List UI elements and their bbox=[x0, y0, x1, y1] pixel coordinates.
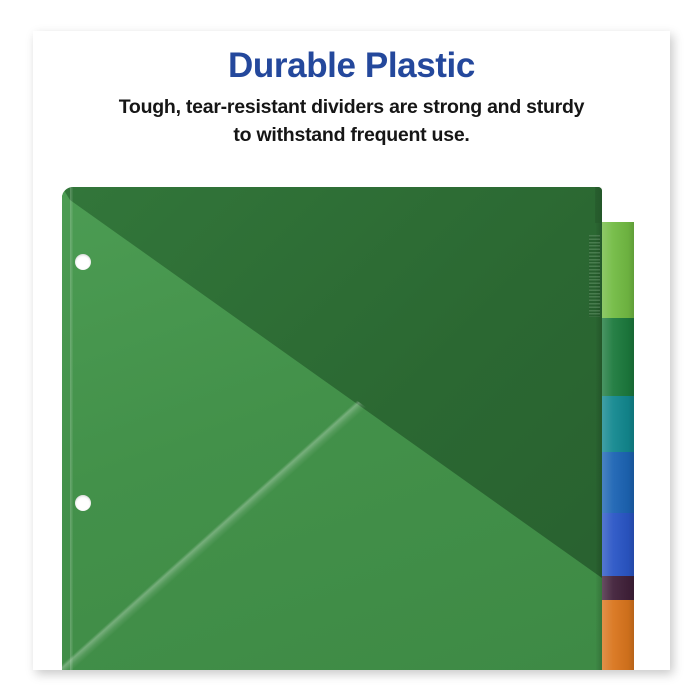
divider-tab-6 bbox=[602, 576, 634, 600]
page-subtitle-line-1: Tough, tear-resistant dividers are stron… bbox=[69, 94, 634, 122]
divider-tab-1 bbox=[602, 222, 634, 318]
page-subtitle: Tough, tear-resistant dividers are stron… bbox=[69, 94, 634, 149]
top-punch-hole bbox=[75, 254, 91, 270]
page-title: Durable Plastic bbox=[33, 47, 670, 86]
divider-ribbed-texture bbox=[589, 235, 600, 317]
bottom-punch-hole bbox=[75, 495, 91, 511]
product-image-canvas: Durable Plastic Tough, tear-resistant di… bbox=[0, 0, 700, 700]
divider-tab-7 bbox=[602, 600, 634, 670]
divider-tab-5 bbox=[602, 513, 634, 576]
divider-tab-2 bbox=[602, 318, 634, 396]
divider-spine-crease bbox=[70, 187, 73, 670]
product-card: Durable Plastic Tough, tear-resistant di… bbox=[33, 31, 670, 670]
divider-tab-3 bbox=[602, 396, 634, 452]
divider-sheet bbox=[62, 187, 602, 670]
divider-tab-strip bbox=[602, 187, 634, 670]
divider-tab-4 bbox=[602, 452, 634, 513]
tab-base-notch-shadow bbox=[595, 187, 603, 223]
page-subtitle-line-2: to withstand frequent use. bbox=[69, 122, 634, 150]
